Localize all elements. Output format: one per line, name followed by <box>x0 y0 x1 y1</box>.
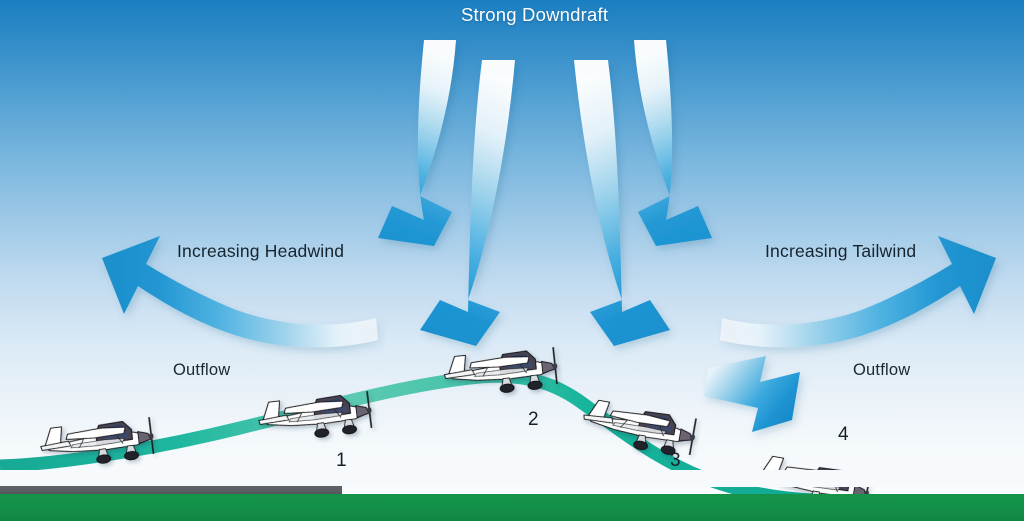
position-number-1: 1 <box>336 450 347 472</box>
aircraft-a <box>39 416 156 471</box>
increasing-headwind-label: Increasing Headwind <box>177 241 344 262</box>
strong-downdraft-label: Strong Downdraft <box>461 4 608 26</box>
microburst-diagram: Strong Downdraft Increasing Headwind Inc… <box>0 0 1024 521</box>
position-number-2: 2 <box>528 409 539 431</box>
position-number-3: 3 <box>670 450 681 472</box>
position-number-4: 4 <box>838 424 849 446</box>
aircraft-c <box>443 346 560 399</box>
aircraft-b <box>257 390 374 445</box>
outflow-label-right: Outflow <box>853 361 910 380</box>
outflow-label-left: Outflow <box>173 361 230 380</box>
increasing-tailwind-label: Increasing Tailwind <box>765 241 916 262</box>
ground-apron <box>0 470 1024 487</box>
grass-field <box>0 494 1024 521</box>
